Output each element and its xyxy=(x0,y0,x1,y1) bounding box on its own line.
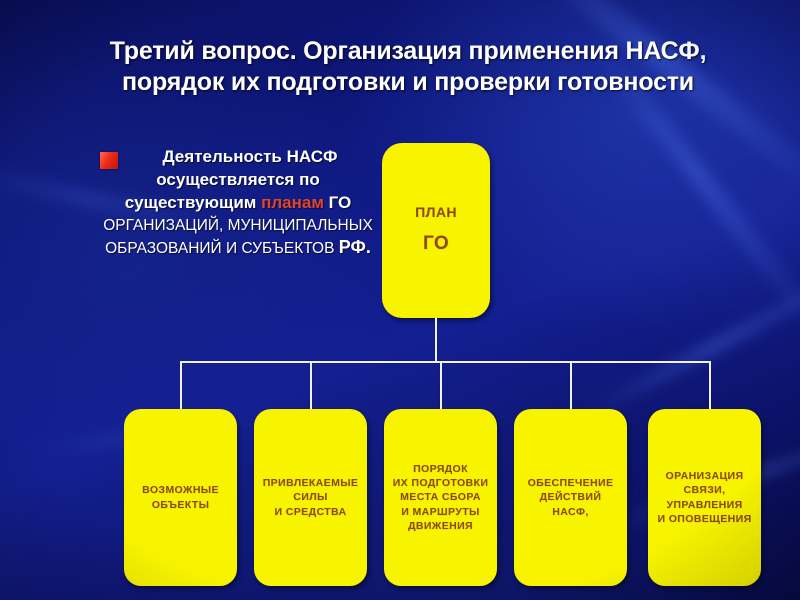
diagram-leaf-box-3[interactable]: ПОРЯДОКИХ ПОДГОТОВКИМЕСТА СБОРАИ МАРШРУТ… xyxy=(384,409,497,586)
leaf-box-5-text: ОРАНИЗАЦИЯСВЯЗИ,УПРАВЛЕНИЯИ ОПОВЕЩЕНИЯ xyxy=(657,469,751,526)
bullet-text-block: Деятельность НАСФ осуществляется по суще… xyxy=(82,146,394,260)
slide-title-line-1: Третий вопрос. Организация применения НА… xyxy=(58,36,758,67)
connector-drop-3 xyxy=(440,361,442,411)
bullet-line-5-bold: РФ. xyxy=(339,237,371,257)
connector-drop-5 xyxy=(709,361,711,411)
leaf-box-2-text: ПРИВЛЕКАЕМЫЕСИЛЫИ СРЕДСТВА xyxy=(263,476,359,519)
diagram-leaf-box-2[interactable]: ПРИВЛЕКАЕМЫЕСИЛЫИ СРЕДСТВА xyxy=(254,409,367,586)
plan-box-line-2: ГО xyxy=(415,226,457,262)
diagram-leaf-box-1[interactable]: ВОЗМОЖНЫЕОБЪЕКТЫ xyxy=(124,409,237,586)
bullet-line-2: осуществляется по xyxy=(82,168,394,191)
bullet-line-4: ОРГАНИЗАЦИЙ, МУНИЦИПАЛЬНЫХ xyxy=(82,215,394,236)
bullet-line-3: существующим планам ГО xyxy=(82,191,394,215)
diagram-leaf-box-5[interactable]: ОРАНИЗАЦИЯСВЯЗИ,УПРАВЛЕНИЯИ ОПОВЕЩЕНИЯ xyxy=(648,409,761,586)
connector-horizontal-bar xyxy=(180,361,711,363)
connector-drop-2 xyxy=(310,361,312,411)
diagram-root-box-plan-go[interactable]: ПЛАНГО xyxy=(382,143,490,318)
bullet-line-5-prefix: ОБРАЗОВАНИЙ И СУБЪЕКТОВ xyxy=(105,240,339,257)
background-swoosh-icon xyxy=(576,251,800,425)
plan-box-text: ПЛАНГО xyxy=(415,199,457,262)
connector-stem xyxy=(435,318,437,363)
bullet-line-5: ОБРАЗОВАНИЙ И СУБЪЕКТОВ РФ. xyxy=(82,236,394,260)
background-swoosh-icon xyxy=(507,0,800,213)
slide-title-line-2: порядок их подготовки и проверки готовно… xyxy=(58,67,758,98)
slide-title: Третий вопрос. Организация применения НА… xyxy=(58,36,758,98)
bullet-line-3-suffix: ГО xyxy=(324,193,351,212)
slide-canvas: Третий вопрос. Организация применения НА… xyxy=(0,0,800,600)
bullet-line-3-prefix: существующим xyxy=(125,193,261,212)
bullet-line-1: Деятельность НАСФ xyxy=(82,146,394,168)
leaf-box-1-text: ВОЗМОЖНЫЕОБЪЕКТЫ xyxy=(142,483,219,511)
diagram-leaf-box-4[interactable]: ОБЕСПЕЧЕНИЕДЕЙСТВИЙНАСФ, xyxy=(514,409,627,586)
bullet-highlight-word: планам xyxy=(261,193,324,212)
connector-drop-1 xyxy=(180,361,182,411)
leaf-box-4-text: ОБЕСПЕЧЕНИЕДЕЙСТВИЙНАСФ, xyxy=(528,476,614,519)
plan-box-line-1: ПЛАН xyxy=(415,204,457,220)
red-square-bullet-icon xyxy=(100,152,118,169)
connector-drop-4 xyxy=(570,361,572,411)
leaf-box-3-text: ПОРЯДОКИХ ПОДГОТОВКИМЕСТА СБОРАИ МАРШРУТ… xyxy=(393,462,489,533)
